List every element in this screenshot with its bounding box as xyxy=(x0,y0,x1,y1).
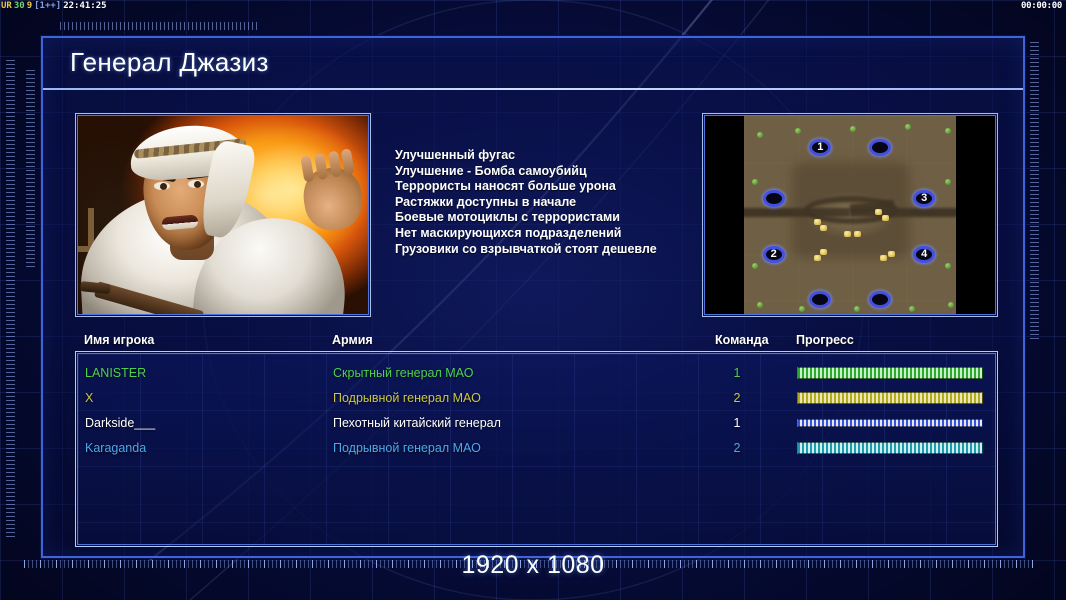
table-row[interactable]: XПодрывной генерал МАО2 xyxy=(78,386,995,410)
map-resource-icon xyxy=(880,255,887,261)
page-title: Генерал Джазиз xyxy=(70,47,269,78)
table-row[interactable]: Darkside___Пехотный китайский генерал1 xyxy=(78,411,995,435)
player-team: 1 xyxy=(723,411,751,435)
map-resource-icon xyxy=(820,249,827,255)
progress-bar-fill xyxy=(797,419,983,427)
player-army: Подрывной генерал МАО xyxy=(333,386,481,410)
map-tree-icon xyxy=(945,263,951,269)
player-name: Darkside___ xyxy=(85,411,155,435)
header-team: Команда xyxy=(715,333,769,347)
map-spawn-point[interactable] xyxy=(763,190,785,207)
ruler-right xyxy=(1030,42,1039,342)
map-tree-icon xyxy=(757,302,763,308)
player-name: Karaganda xyxy=(85,436,146,460)
description-line: Улучшение - Бомба самоубийц xyxy=(395,164,725,180)
status-bar: UR309[1++]22:41:25 00:00:00 xyxy=(0,0,1066,13)
map-resource-icon xyxy=(820,225,827,231)
player-progress xyxy=(797,392,983,404)
description-line: Грузовики со взрывчаткой стоят дешевле xyxy=(395,242,725,258)
header-progress: Прогресс xyxy=(796,333,854,347)
player-progress xyxy=(797,417,983,429)
session-timer: 00:00:00 xyxy=(1021,0,1062,13)
header-army: Армия xyxy=(332,333,373,347)
map-letterbox-right xyxy=(956,116,995,314)
map-spawn-point-1[interactable]: 1 xyxy=(809,139,831,156)
map-plateau xyxy=(792,162,910,258)
description-line: Боевые мотоциклы с террористами xyxy=(395,210,725,226)
player-team: 2 xyxy=(723,386,751,410)
ruler-left-outer xyxy=(6,60,15,540)
map-letterbox-left xyxy=(705,116,744,314)
description-line: Растяжки доступны в начале xyxy=(395,195,725,211)
player-team: 1 xyxy=(723,361,751,385)
status-clock: 22:41:25 xyxy=(62,1,107,11)
description-line: Нет маскирующихся подразделений xyxy=(395,226,725,242)
ruler-left-inner xyxy=(26,70,35,270)
player-name: X xyxy=(85,386,93,410)
map-spawn-point-2[interactable]: 2 xyxy=(763,246,785,263)
player-army: Подрывной генерал МАО xyxy=(333,436,481,460)
player-army: Пехотный китайский генерал xyxy=(333,411,501,435)
map-resource-icon xyxy=(854,231,861,237)
map-resource-icon xyxy=(882,215,889,221)
progress-bar-fill xyxy=(797,392,983,404)
status-value-1: 30 xyxy=(13,1,26,11)
map-resource-icon xyxy=(875,209,882,215)
player-progress xyxy=(797,367,983,379)
ruler-top xyxy=(60,22,260,30)
header-player-name: Имя игрока xyxy=(84,333,154,347)
map-preview[interactable]: 1324 xyxy=(704,115,996,315)
progress-bar-fill xyxy=(797,367,983,379)
map-terrain: 1324 xyxy=(744,116,956,314)
map-resource-icon xyxy=(888,251,895,257)
main-panel: Генерал Джазиз xyxy=(41,36,1025,558)
resolution-label: 1920 x 1080 xyxy=(0,551,1066,580)
general-portrait xyxy=(77,115,369,315)
status-tag: UR xyxy=(0,1,13,11)
general-info-row: Улучшенный фугас Улучшение - Бомба самоу… xyxy=(43,92,1023,326)
map-tree-icon xyxy=(795,128,801,134)
player-list-headers: Имя игрока Армия Команда Прогресс xyxy=(43,333,1023,353)
map-tree-icon xyxy=(850,126,856,132)
progress-bar-fill xyxy=(797,442,983,454)
portrait-eye-right xyxy=(188,180,204,188)
map-tree-icon xyxy=(948,302,954,308)
player-team: 2 xyxy=(723,436,751,460)
title-bar: Генерал Джазиз xyxy=(43,38,1023,90)
map-resource-icon xyxy=(814,255,821,261)
table-row[interactable]: LANISTERСкрытный генерал МАО1 xyxy=(78,361,995,385)
player-name: LANISTER xyxy=(85,361,146,385)
general-description: Улучшенный фугас Улучшение - Бомба самоу… xyxy=(395,148,725,257)
status-bracket: [1++] xyxy=(33,1,62,11)
map-resource-icon xyxy=(844,231,851,237)
map-spawn-point[interactable] xyxy=(869,139,891,156)
table-row[interactable]: KaragandaПодрывной генерал МАО2 xyxy=(78,436,995,460)
description-line: Террористы наносят больше урона xyxy=(395,179,725,195)
player-army: Скрытный генерал МАО xyxy=(333,361,473,385)
portrait-eye-left xyxy=(154,182,170,190)
map-tree-icon xyxy=(905,124,911,130)
map-tree-icon xyxy=(757,132,763,138)
player-progress xyxy=(797,442,983,454)
description-line: Улучшенный фугас xyxy=(395,148,725,164)
map-spawn-point[interactable] xyxy=(869,291,891,308)
status-value-2: 9 xyxy=(26,1,33,11)
map-spawn-point-4[interactable]: 4 xyxy=(913,246,935,263)
player-list: LANISTERСкрытный генерал МАО1XПодрывной … xyxy=(77,353,996,545)
map-resource-icon xyxy=(814,219,821,225)
